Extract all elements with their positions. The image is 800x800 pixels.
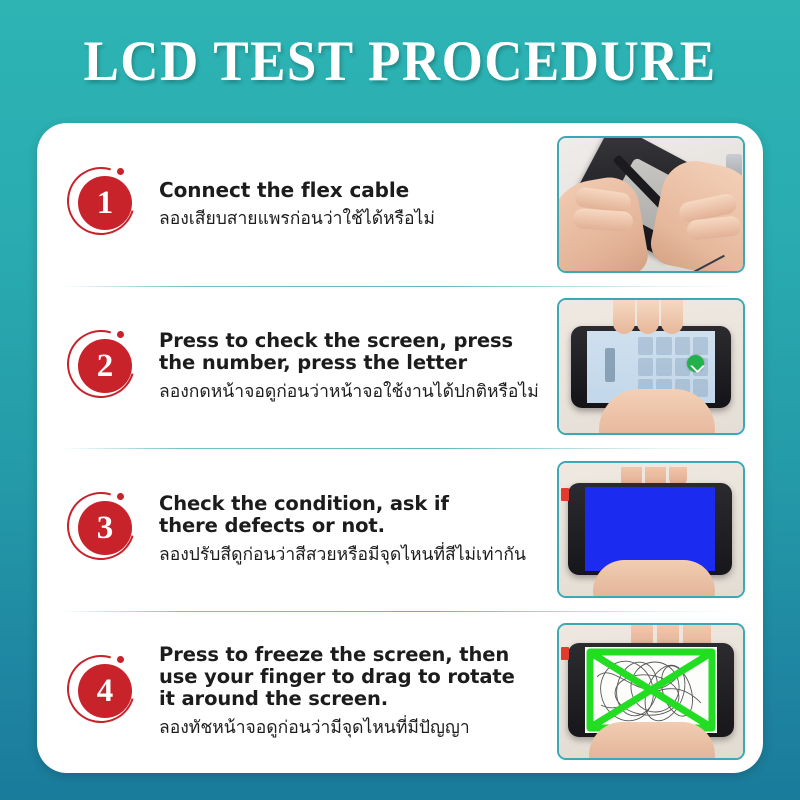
- step-number-badge-4: 4: [67, 655, 141, 729]
- touch-test-pattern-icon: [585, 647, 717, 733]
- step-photo-3: [557, 461, 745, 598]
- step-photo-2: [557, 298, 745, 435]
- lcd-test-procedure-poster: LCD TEST PROCEDURE 1 Connect the flex ca…: [0, 0, 800, 800]
- step-row-3: 3 Check the condition, ask if there defe…: [37, 448, 763, 611]
- finger-shape: [613, 300, 635, 334]
- fingers-group: [613, 300, 699, 334]
- keypad-key: [638, 337, 653, 355]
- step-photo-1: [557, 136, 745, 273]
- step-title-th-2: ลองกดหน้าจอดูก่อนว่าหน้าจอใช้งานได้ปกติห…: [159, 379, 549, 403]
- step-number-badge-1: 1: [67, 167, 141, 241]
- step-title-th-4: ลองทัชหน้าจอดูก่อนว่ามีจุดไหนที่มีปัญญา: [159, 715, 549, 739]
- finger-shape: [661, 300, 683, 334]
- step-text-2: Press to check the screen, press the num…: [141, 330, 557, 403]
- bottom-background-strip: [0, 773, 800, 800]
- dialed-number-field: [605, 348, 615, 382]
- palm-shape: [589, 722, 715, 760]
- phone-touch-test-green-x-photo: [559, 625, 743, 758]
- step-row-4: 4 Press to freeze the screen, then use y…: [37, 611, 763, 774]
- step-title-en-3: Check the condition, ask if there defect…: [159, 493, 549, 537]
- badge-ring-dot-icon: [117, 656, 124, 663]
- step-text-4: Press to freeze the screen, then use you…: [141, 644, 557, 739]
- hands-connecting-flex-cable-photo: [559, 138, 743, 271]
- step-number-4: 4: [78, 664, 132, 718]
- steps-list: 1 Connect the flex cable ลองเสียบสายแพรก…: [37, 123, 763, 773]
- keypad-key: [675, 337, 690, 355]
- blue-test-screen: [585, 487, 715, 571]
- red-marker-sticker: [561, 647, 569, 660]
- keypad-key: [656, 358, 671, 376]
- step-number-badge-3: 3: [67, 492, 141, 566]
- keypad-key: [693, 337, 708, 355]
- palm-shape: [593, 560, 715, 598]
- step-title-th-3: ลองปรับสีดูก่อนว่าสีสวยหรือมีจุดไหนที่สี…: [159, 542, 549, 566]
- hand-holding-phone-dialer-photo: [559, 300, 743, 433]
- step-photo-4: [557, 623, 745, 760]
- step-row-2: 2 Press to check the screen, press the n…: [37, 286, 763, 449]
- step-text-1: Connect the flex cable ลองเสียบสายแพรก่อ…: [141, 179, 557, 230]
- step-number-1: 1: [78, 176, 132, 230]
- phone-blue-screen-color-test-photo: [559, 463, 743, 596]
- step-number-2: 2: [78, 339, 132, 393]
- finger-shape: [637, 300, 659, 334]
- keypad-key: [656, 337, 671, 355]
- red-marker-sticker: [561, 488, 569, 501]
- step-title-en-1: Connect the flex cable: [159, 179, 549, 201]
- badge-ring-dot-icon: [117, 331, 124, 338]
- step-title-th-1: ลองเสียบสายแพรก่อนว่าใช้ได้หรือไม่: [159, 206, 549, 230]
- finger-shape: [572, 208, 633, 232]
- page-title: LCD TEST PROCEDURE: [28, 30, 772, 94]
- touch-test-screen: [585, 647, 717, 733]
- steps-card: 1 Connect the flex cable ลองเสียบสายแพรก…: [37, 123, 763, 773]
- step-number-badge-2: 2: [67, 330, 141, 404]
- step-text-3: Check the condition, ask if there defect…: [141, 493, 557, 566]
- step-title-en-4: Press to freeze the screen, then use you…: [159, 644, 549, 710]
- keypad-key: [638, 358, 653, 376]
- step-title-en-2: Press to check the screen, press the num…: [159, 330, 549, 374]
- step-row-1: 1 Connect the flex cable ลองเสียบสายแพรก…: [37, 123, 763, 286]
- step-number-3: 3: [78, 501, 132, 555]
- palm-shape: [599, 389, 715, 435]
